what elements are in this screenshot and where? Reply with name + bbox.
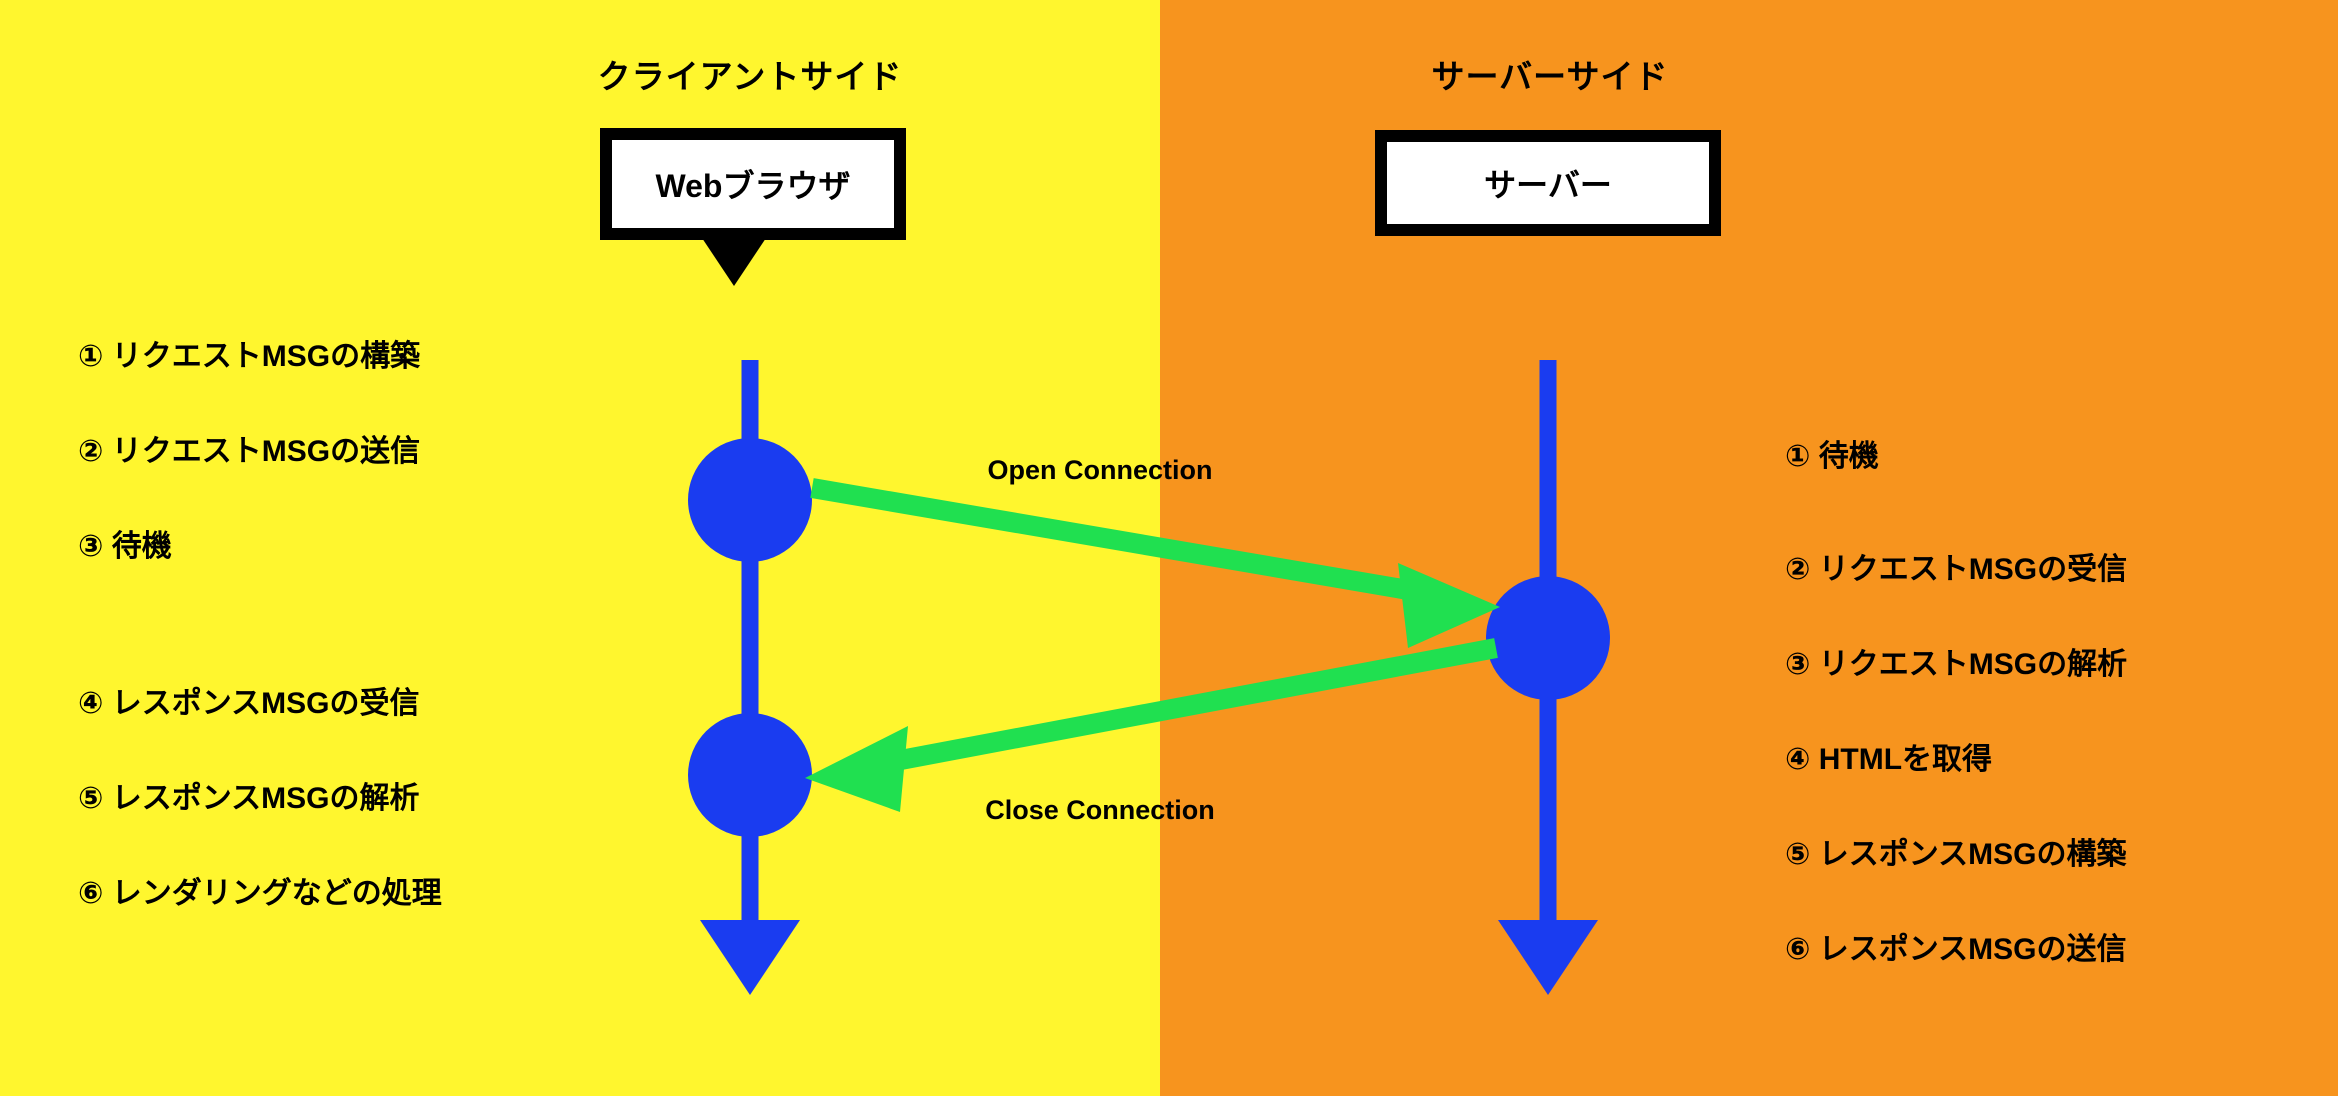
close-connection-arrow (805, 648, 1496, 812)
server-step-6: ⑥ レスポンスMSGの送信 (1785, 933, 2338, 966)
server-step-4: ④ HTMLを取得 (1785, 743, 2338, 776)
server-activation-point (1486, 576, 1610, 700)
server-lifeline (1486, 360, 1610, 995)
server-step-5: ⑤ レスポンスMSGの構築 (1785, 838, 2338, 871)
server-step-3: ③ リクエストMSGの解析 (1785, 648, 2338, 681)
arrow-right-icon (1398, 563, 1500, 648)
arrow-down-icon (700, 920, 800, 995)
server-step-list: ① 待機 ② リクエストMSGの受信 ③ リクエストMSGの解析 ④ HTMLを… (1785, 440, 2338, 1028)
client-step-2: ② リクエストMSGの送信 (78, 435, 638, 468)
open-connection-label: Open Connection (880, 455, 1320, 486)
client-step-5: ⑤ レスポンスMSGの解析 (78, 782, 638, 815)
client-step-4: ④ レスポンスMSGの受信 (78, 687, 638, 720)
client-step-3: ③ 待機 (78, 530, 638, 563)
open-connection-arrow (812, 488, 1500, 648)
client-activation-point-response (688, 713, 812, 837)
diagram-canvas: クライアントサイド サーバーサイド Webブラウザ サーバー (0, 0, 2338, 1096)
client-lifeline (688, 360, 812, 995)
client-step-1: ① リクエストMSGの構築 (78, 340, 638, 373)
arrow-down-icon (1498, 920, 1598, 995)
client-step-list: ① リクエストMSGの構築 ② リクエストMSGの送信 ③ 待機 ④ レスポンス… (78, 340, 638, 972)
server-step-2: ② リクエストMSGの受信 (1785, 553, 2338, 586)
client-step-6: ⑥ レンダリングなどの処理 (78, 877, 638, 910)
client-activation-point-request (688, 438, 812, 562)
close-connection-label: Close Connection (880, 795, 1320, 826)
server-step-1: ① 待機 (1785, 440, 2338, 473)
